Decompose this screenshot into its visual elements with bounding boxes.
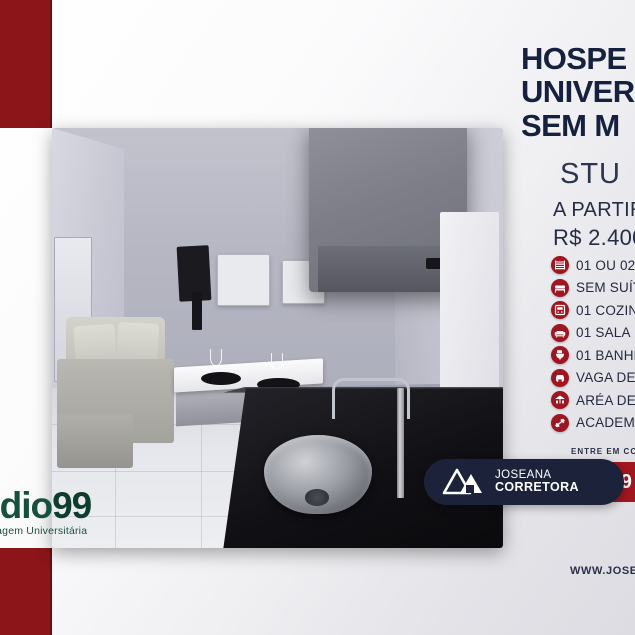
feature-label: 01 OU 02 xyxy=(576,258,635,273)
wine-glass xyxy=(271,353,283,371)
agent-badge[interactable]: JOSEANA CORRETORA xyxy=(424,459,624,505)
stove-icon xyxy=(551,301,569,319)
studio99-text: udio xyxy=(0,485,52,526)
studio99-wordmark: udio99 xyxy=(0,487,198,524)
headline-block: HOSPE UNIVER SEM M xyxy=(521,42,635,142)
ottoman xyxy=(57,414,134,469)
feature-label: VAGA DE xyxy=(576,370,635,385)
house-roof-logo-icon xyxy=(442,465,484,500)
wine-glass xyxy=(210,349,222,367)
feature-item-living-room: 01 SALA P xyxy=(551,322,635,345)
feature-item-kitchen: 01 COZIN xyxy=(551,299,635,322)
website-url: WWW.JOSEA xyxy=(570,565,635,577)
feature-item-gym: ACADEMIA xyxy=(551,412,635,435)
red-accent-edge-bottom xyxy=(50,548,52,635)
feature-label: ACADEMIA xyxy=(576,415,635,430)
bunk-bed-icon xyxy=(551,256,569,274)
leisure-icon xyxy=(551,391,569,409)
price-value: R$ 2.400 xyxy=(553,225,635,251)
feature-item-parking: VAGA DE xyxy=(551,367,635,390)
studio99-tagline: pedagem Universitária xyxy=(0,526,198,537)
feature-label: ARÉA DE L xyxy=(576,393,635,408)
red-accent-edge-top xyxy=(50,0,52,128)
headline-line-1: HOSPE xyxy=(521,42,635,75)
agent-name-block: JOSEANA CORRETORA xyxy=(495,469,579,495)
studio99-number: 99 xyxy=(52,485,91,526)
feature-label: 01 COZIN xyxy=(576,303,635,318)
feature-label: SEM SUÍT xyxy=(576,280,635,295)
dumbbell-icon xyxy=(551,414,569,432)
tv-mount-arm xyxy=(192,292,202,330)
studio99-logo: udio99 pedagem Universitária xyxy=(0,487,198,537)
price-block: A PARTIR R$ 2.400 xyxy=(553,199,635,251)
faucet-stem xyxy=(397,388,404,497)
car-icon xyxy=(551,369,569,387)
feature-item-bedrooms: 01 OU 02 xyxy=(551,254,635,277)
feature-list: 01 OU 02 SEM SUÍT 01 COZIN xyxy=(551,254,635,434)
agent-role: CORRETORA xyxy=(495,481,579,495)
place-setting xyxy=(201,372,242,385)
wall-panel xyxy=(217,254,271,306)
headline-line-2: UNIVER xyxy=(521,75,635,108)
red-accent-block-top xyxy=(0,0,52,128)
feature-label: 01 SALA P xyxy=(576,325,635,340)
price-from-label: A PARTIR xyxy=(553,199,635,222)
feature-item-leisure-area: ARÉA DE L xyxy=(551,389,635,412)
advertisement-poster: udio99 pedagem Universitária HOSPE UNIVE… xyxy=(0,0,635,635)
feature-label: 01 BANHE xyxy=(576,348,635,363)
sofa-icon xyxy=(551,324,569,342)
toilet-icon xyxy=(551,346,569,364)
sink-drain xyxy=(305,489,330,506)
bed-icon xyxy=(551,279,569,297)
feature-item-bathroom: 01 BANHE xyxy=(551,344,635,367)
red-accent-block-bottom xyxy=(0,548,52,635)
contact-label: ENTRE EM CONTA xyxy=(571,447,635,456)
headline-subtitle: STU xyxy=(560,158,621,191)
headline-line-3: SEM M xyxy=(521,109,635,142)
feature-item-suite: SEM SUÍT xyxy=(551,277,635,300)
